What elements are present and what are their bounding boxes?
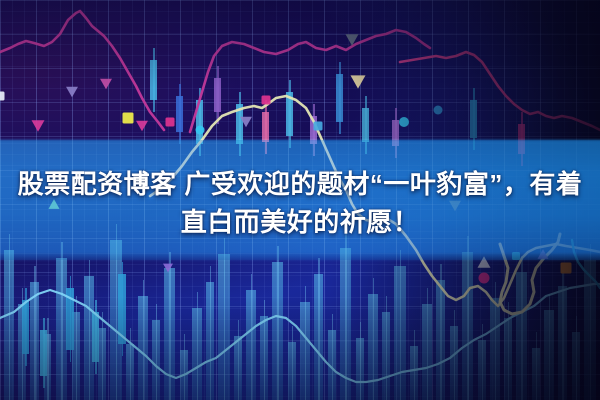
banner-image: 股票配资博客 广受欢迎的题材“一叶豹富”，有着 直白而美好的祈愿！	[0, 0, 600, 400]
headline-line-1: 股票配资博客 广受欢迎的题材“一叶豹富”，有着	[18, 165, 583, 203]
banner-headline: 股票配资博客 广受欢迎的题材“一叶豹富”，有着 直白而美好的祈愿！	[0, 160, 600, 246]
headline-line-2: 直白而美好的祈愿！	[181, 203, 420, 241]
